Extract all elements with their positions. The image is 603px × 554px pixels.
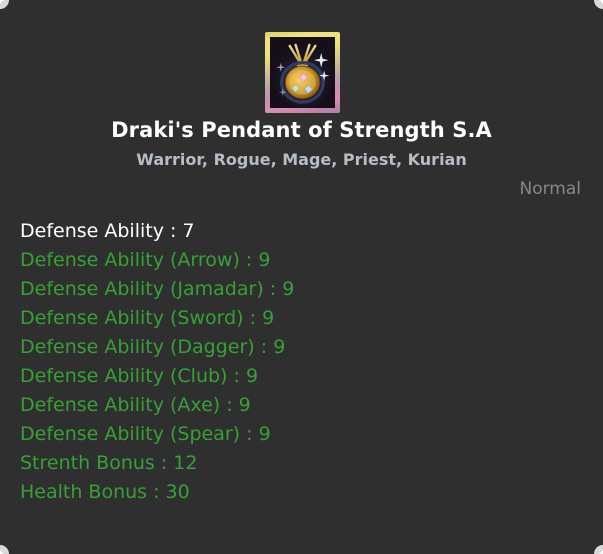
item-stat-line: Strenth Bonus : 12 bbox=[20, 449, 591, 478]
pendant-item-icon-art bbox=[270, 37, 335, 108]
corner-artifact-bottom-left bbox=[0, 545, 9, 554]
corner-artifact-top-left bbox=[0, 0, 9, 9]
item-stat-line: Defense Ability (Arrow) : 9 bbox=[20, 246, 591, 275]
pendant-icon-svg bbox=[270, 37, 335, 108]
corner-artifact-top-right bbox=[594, 0, 603, 9]
corner-artifact-bottom-right bbox=[594, 545, 603, 554]
item-stat-line: Defense Ability (Club) : 9 bbox=[20, 362, 591, 391]
item-stat-line: Defense Ability (Jamadar) : 9 bbox=[20, 275, 591, 304]
item-stat-line: Defense Ability (Axe) : 9 bbox=[20, 391, 591, 420]
item-stat-line: Defense Ability : 7 bbox=[20, 217, 591, 246]
pendant-item-icon[interactable] bbox=[265, 32, 340, 113]
item-stat-line: Defense Ability (Sword) : 9 bbox=[20, 304, 591, 333]
item-name: Draki's Pendant of Strength S.A bbox=[0, 118, 603, 142]
item-stat-line: Defense Ability (Dagger) : 9 bbox=[20, 333, 591, 362]
item-grade-label: Normal bbox=[519, 179, 581, 199]
item-stat-line: Defense Ability (Spear) : 9 bbox=[20, 420, 591, 449]
item-tooltip: Draki's Pendant of Strength S.A Warrior,… bbox=[0, 0, 603, 554]
item-stat-line: Health Bonus : 30 bbox=[20, 478, 591, 507]
item-class-requirements: Warrior, Rogue, Mage, Priest, Kurian bbox=[0, 150, 603, 169]
item-stats-list: Defense Ability : 7Defense Ability (Arro… bbox=[20, 217, 591, 507]
